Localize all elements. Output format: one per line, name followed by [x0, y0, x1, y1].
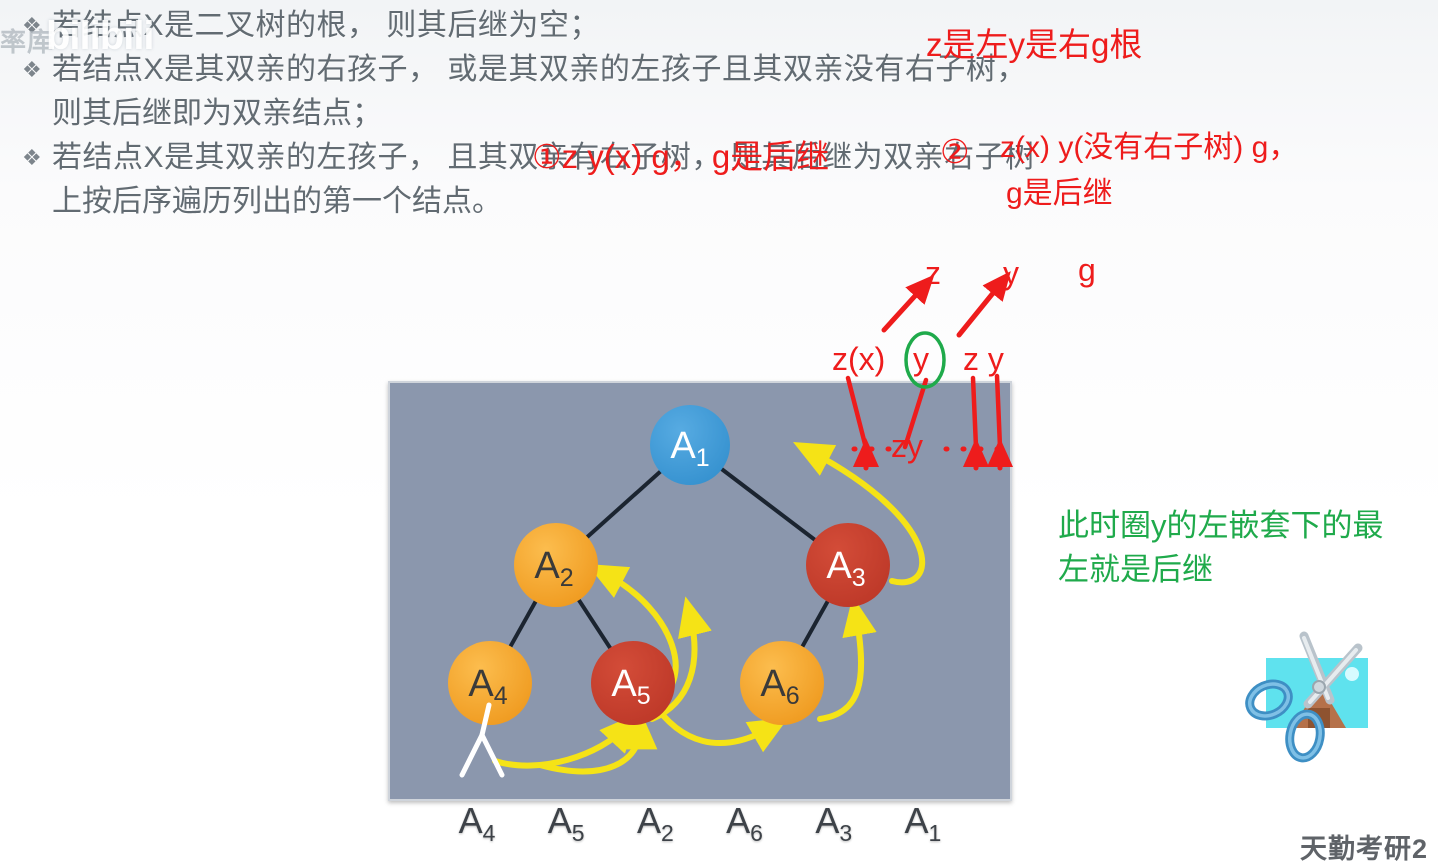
bullet-item-2: ❖ 若结点X是其双亲的右孩子， 或是其双亲的左孩子且其双亲没有右子树， [22, 48, 1362, 92]
bullet-2-line-1: 若结点X是其双亲的右孩子， 或是其双亲的左孩子且其双亲没有右子树， [52, 48, 1362, 92]
lecture-text-block: ❖ 若结点X是二叉树的根， 则其后继为空； ❖ 若结点X是其双亲的右孩子， 或是… [22, 4, 1362, 224]
tree-node-a2: A2 [514, 523, 598, 607]
postorder-sequence: A4 A5 A2 A6 A3 A1 [440, 800, 960, 847]
tianqin-watermark: 天勤考研2 [1300, 827, 1428, 866]
postorder-item-6: A1 [886, 800, 960, 847]
postorder-item-3: A2 [618, 800, 692, 847]
annotation-green-line-1: 此时圈y的左嵌套下的最 [1058, 500, 1384, 545]
annotation-label-zy: z y [963, 341, 1004, 378]
annotation-label-zx: z(x) [832, 341, 885, 378]
tree-node-a1: A1 [650, 405, 730, 485]
annotation-rule-2-line-2: g是后继 [1006, 168, 1113, 212]
bullet-3-line-2: 上按后序遍历列出的第一个结点。 [52, 180, 1362, 224]
postorder-item-2: A5 [529, 800, 603, 847]
annotation-rule-1: ①z y(x) g， g是后继 [532, 130, 829, 178]
annotation-green-line-2: 左就是后继 [1058, 544, 1213, 589]
annotation-rule-2-line-1: z(x) y(没有右子树) g， [1000, 122, 1298, 166]
tree-nodes: A1 A2 A3 A4 A5 [448, 405, 890, 725]
slide-canvas: ❖ 若结点X是二叉树的根， 则其后继为空； ❖ 若结点X是其双亲的右孩子， 或是… [0, 0, 1438, 864]
tree-node-a4: A4 [448, 641, 532, 725]
annotation-label-g: g [1078, 252, 1096, 289]
thread-to-a4 [495, 727, 626, 766]
snipping-tool-icon [1212, 612, 1412, 782]
tree-node-a5: A5 [591, 641, 675, 725]
annotation-label-y-circled: y [913, 341, 929, 378]
annotation-rule-2-marker: ② [940, 132, 970, 171]
tree-node-a3: A3 [806, 523, 890, 607]
bullet-item-1: ❖ 若结点X是二叉树的根， 则其后继为空； [22, 4, 1362, 48]
postorder-item-4: A6 [708, 800, 782, 847]
tree-node-a6: A6 [740, 641, 824, 725]
postorder-item-5: A3 [797, 800, 871, 847]
arrow-to-z [884, 285, 925, 330]
bullet-glyph-icon: ❖ [22, 136, 52, 180]
thread-a6-to-a3 [820, 615, 861, 719]
annotation-label-y: y [1003, 255, 1019, 292]
bullet-1-line-1: 若结点X是二叉树的根， 则其后继为空； [52, 4, 1362, 48]
annotation-label-z: z [925, 255, 941, 292]
annotation-top-right: z是左y是右g根 [926, 18, 1142, 66]
annotation-label-zy-inline: zy [891, 428, 923, 465]
watermark-secondary: 率库 [0, 22, 54, 59]
traversal-threads [495, 451, 922, 771]
postorder-item-1: A4 [440, 800, 514, 847]
arrow-to-y [959, 282, 1002, 335]
